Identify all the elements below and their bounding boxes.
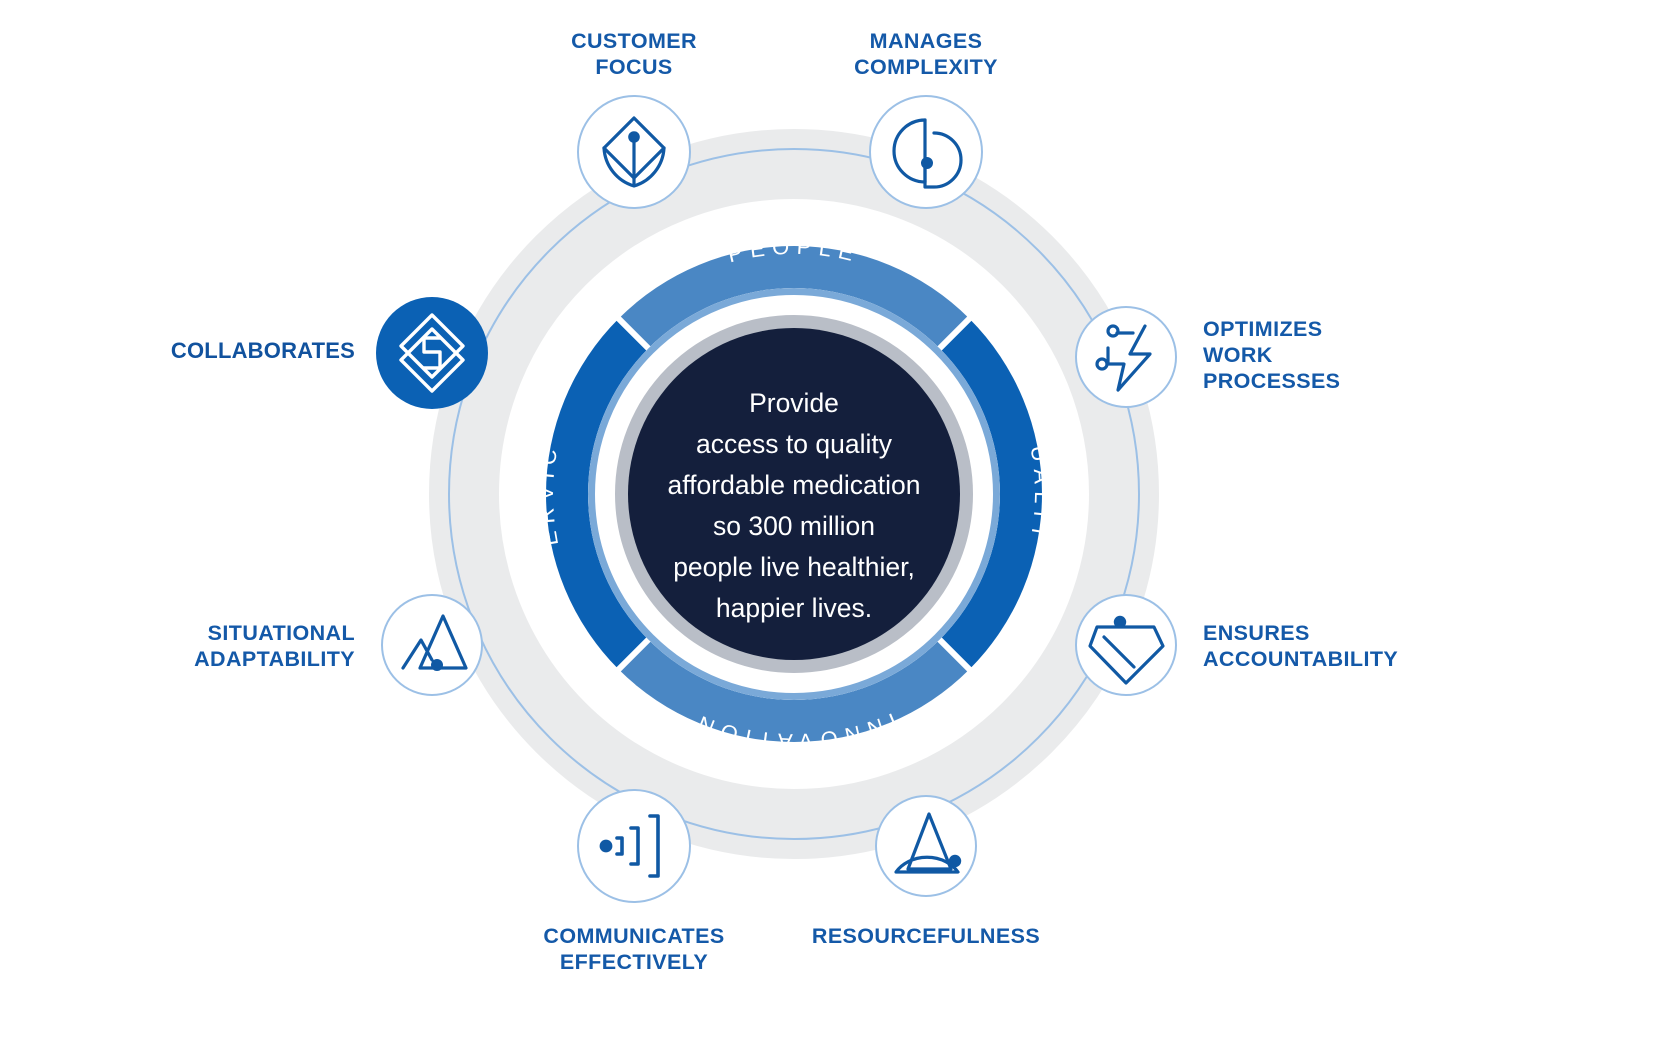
competency-label-communicates-effectively: COMMUNICATES EFFECTIVELY xyxy=(509,923,759,975)
competency-node-optimizes-work-processes[interactable] xyxy=(1076,307,1176,407)
competency-node-situational-adaptability[interactable] xyxy=(382,595,482,695)
competency-node-communicates-effectively[interactable] xyxy=(578,790,690,902)
competency-label-ensures-accountability: ENSURES ACCOUNTABILITY xyxy=(1203,620,1433,672)
center-statement-line-1: Provide xyxy=(749,388,839,418)
center-statement-line-2: access to quality xyxy=(696,429,893,459)
competency-node-resourcefulness[interactable] xyxy=(876,796,976,896)
competency-label-situational-adaptability: SITUATIONAL ADAPTABILITY xyxy=(135,620,355,672)
purpose-wheel-diagram: PEOPLE INNOVATION QUALITY SERVICE Provid… xyxy=(0,0,1667,1051)
competency-label-collaborates: COLLABORATES xyxy=(105,338,355,364)
competency-node-customer-focus[interactable] xyxy=(578,96,690,208)
center-statement-line-6: happier lives. xyxy=(716,593,872,623)
competency-label-optimizes-work-processes: OPTIMIZES WORK PROCESSES xyxy=(1203,316,1423,394)
competency-label-customer-focus: CUSTOMER FOCUS xyxy=(534,28,734,80)
center-statement-line-5: people live healthier, xyxy=(673,552,915,582)
competency-label-manages-complexity: MANAGES COMPLEXITY xyxy=(826,28,1026,80)
wheel-graphic: PEOPLE INNOVATION QUALITY SERVICE Provid… xyxy=(0,0,1667,1051)
competency-node-ensures-accountability[interactable] xyxy=(1076,595,1176,695)
competency-node-manages-complexity[interactable] xyxy=(870,96,982,208)
center-statement-line-3: affordable medication xyxy=(668,470,921,500)
center-statement-line-4: so 300 million xyxy=(713,511,875,541)
competency-label-resourcefulness: RESOURCEFULNESS xyxy=(801,923,1051,949)
competency-node-collaborates[interactable] xyxy=(376,297,488,409)
